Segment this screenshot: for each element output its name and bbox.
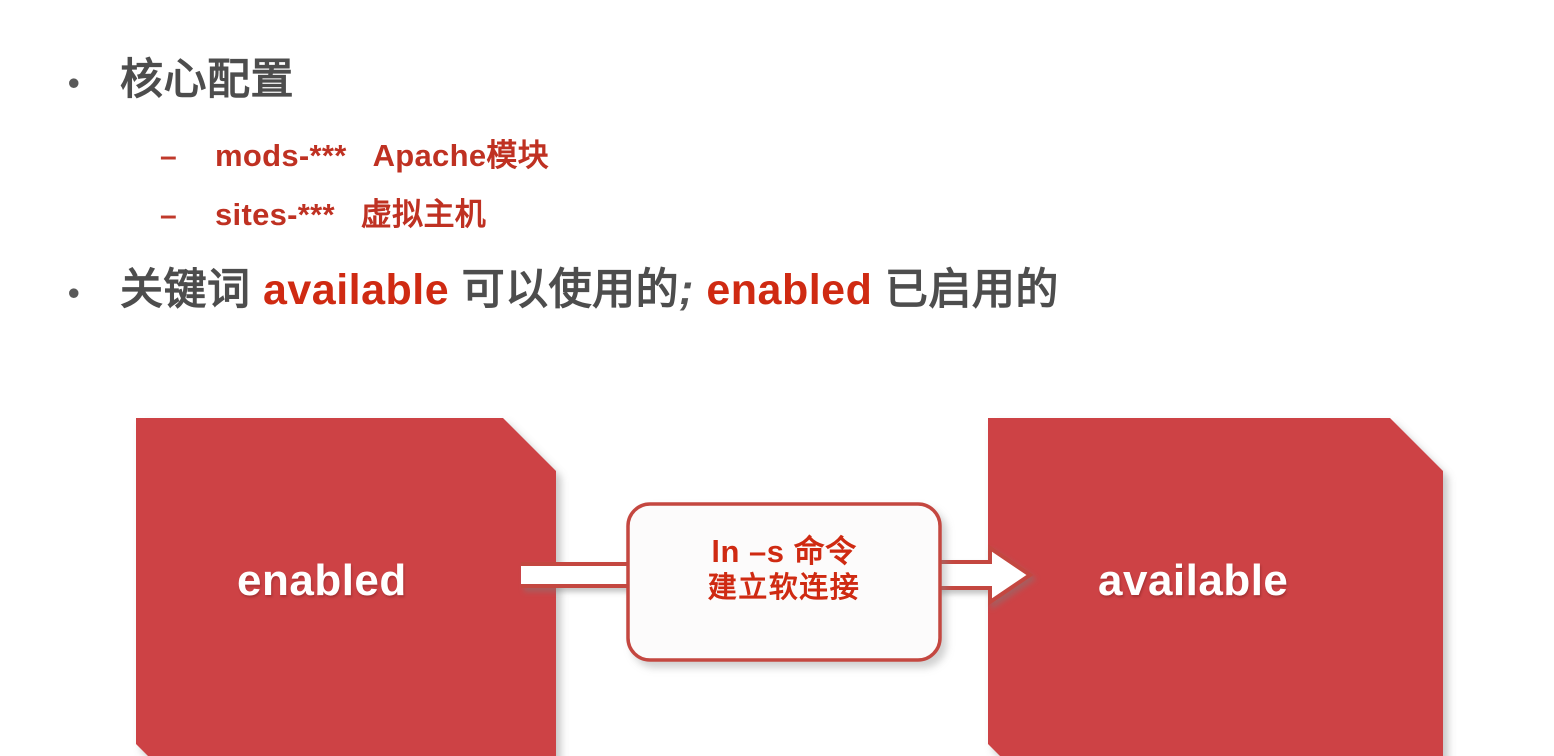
mods-name: mods-*** bbox=[215, 138, 347, 173]
bullet-item-sites: – sites-***虚拟主机 bbox=[160, 199, 486, 232]
sites-name: sites-*** bbox=[215, 197, 335, 232]
center-command-label: ln –s 命令 建立软连接 bbox=[628, 534, 940, 605]
bullet-item-keywords: • 关键词 available 可以使用的; enabled 已启用的 bbox=[58, 268, 1059, 313]
center-command-line1: ln –s 命令 bbox=[628, 534, 940, 571]
bullet-label-core-config: 核心配置 bbox=[120, 58, 294, 103]
center-command-line2: 建立软连接 bbox=[628, 571, 940, 605]
keyword-separator: ; bbox=[679, 266, 694, 314]
bullet-text-sites: sites-***虚拟主机 bbox=[215, 199, 486, 232]
bullet-item-mods: – mods-***Apache模块 bbox=[160, 140, 549, 173]
chip-available-label: available bbox=[1098, 556, 1288, 606]
bullet-marker-dot: • bbox=[58, 276, 120, 309]
bullet-marker-dash: – bbox=[160, 201, 215, 231]
keyword-label: 关键词 bbox=[120, 266, 251, 314]
bullet-item-core-config: • 核心配置 bbox=[58, 58, 294, 103]
bullet-marker-dot: • bbox=[58, 66, 120, 99]
sites-desc: 虚拟主机 bbox=[361, 197, 486, 232]
mods-desc: Apache模块 bbox=[373, 138, 549, 173]
keyword-term-available: available bbox=[263, 266, 449, 314]
bullet-text-mods: mods-***Apache模块 bbox=[215, 140, 549, 173]
keyword-term-enabled: enabled bbox=[706, 266, 872, 314]
chip-enabled-label: enabled bbox=[237, 556, 407, 606]
keyword-line: 关键词 available 可以使用的; enabled 已启用的 bbox=[120, 268, 1059, 313]
keyword-meaning-enabled: 已启用的 bbox=[885, 266, 1059, 314]
slide-canvas: • 核心配置 – mods-***Apache模块 – sites-***虚拟主… bbox=[0, 0, 1554, 756]
keyword-meaning-available: 可以使用的 bbox=[462, 266, 680, 314]
flow-diagram bbox=[0, 0, 1554, 756]
bullet-marker-dash: – bbox=[160, 142, 215, 172]
